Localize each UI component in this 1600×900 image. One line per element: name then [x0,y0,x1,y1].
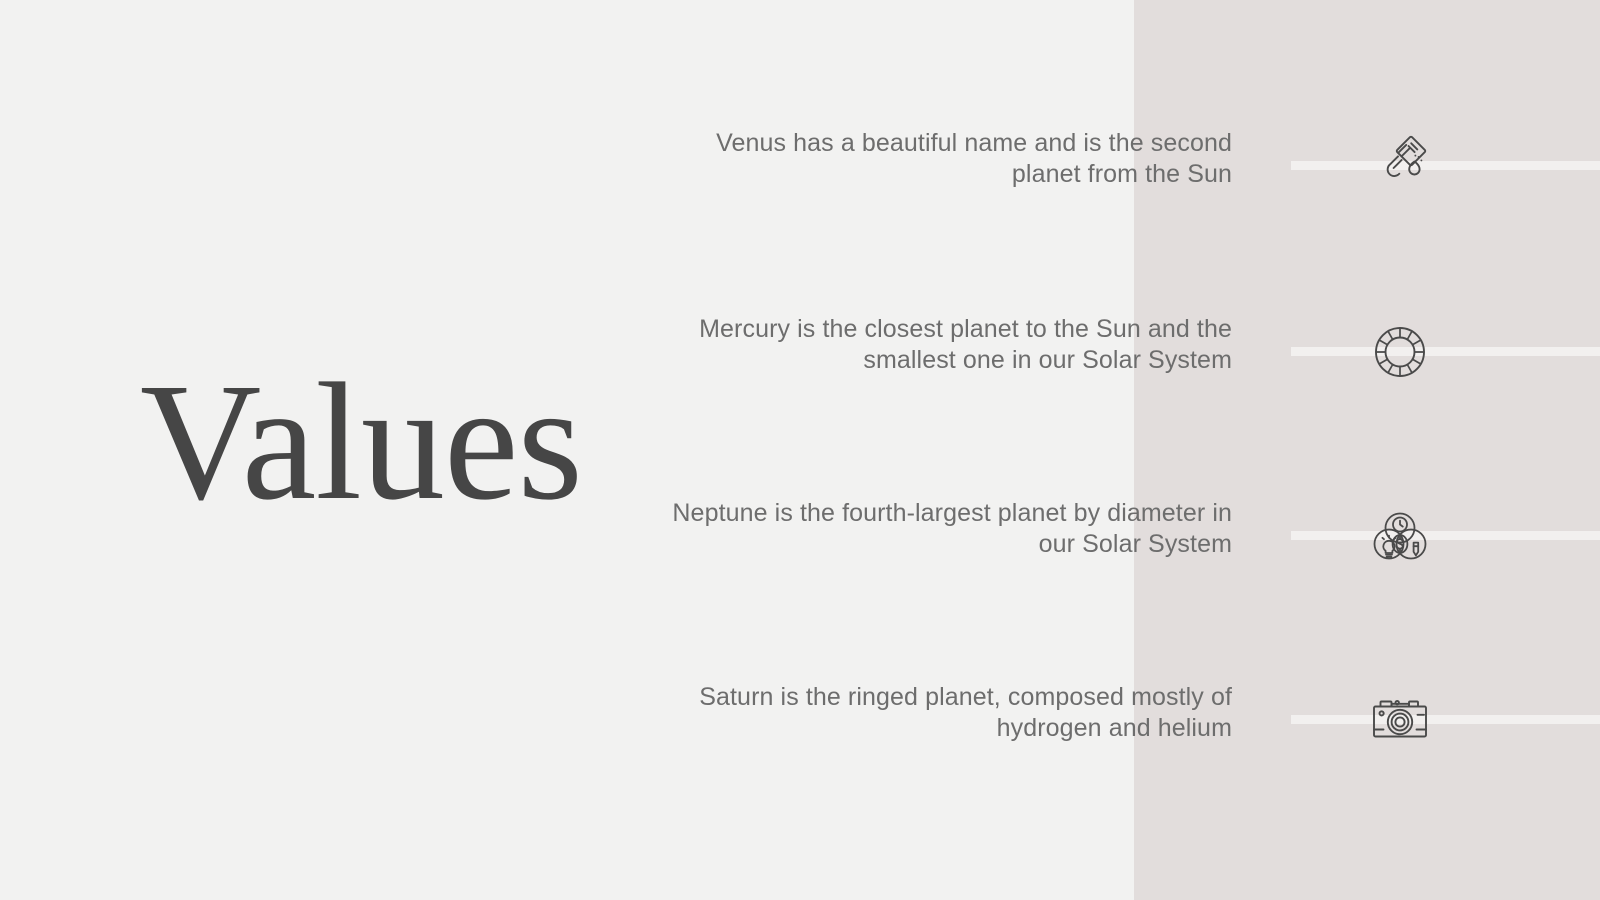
camera-icon [1368,688,1432,752]
value-row: Venus has a beautiful name and is the se… [0,102,1600,222]
slide-values: Values Venus has a beautiful name and is… [0,0,1600,900]
row-divider-rule [1291,161,1600,170]
value-row-text: Venus has a beautiful name and is the se… [672,128,1232,190]
row-divider-rule [1291,531,1600,540]
paint-brush-icon [1368,134,1432,198]
value-row-text: Mercury is the closest planet to the Sun… [672,314,1232,376]
value-row: Neptune is the fourth-largest planet by … [0,472,1600,592]
value-row-text: Saturn is the ringed planet, composed mo… [672,682,1232,744]
venn-ideas-icon [1368,504,1432,568]
value-row: Saturn is the ringed planet, composed mo… [0,656,1600,776]
sunburst-ring-icon [1368,320,1432,384]
row-divider-rule [1291,715,1600,724]
row-divider-rule [1291,347,1600,356]
value-row-text: Neptune is the fourth-largest planet by … [672,498,1232,560]
value-row: Mercury is the closest planet to the Sun… [0,288,1600,408]
